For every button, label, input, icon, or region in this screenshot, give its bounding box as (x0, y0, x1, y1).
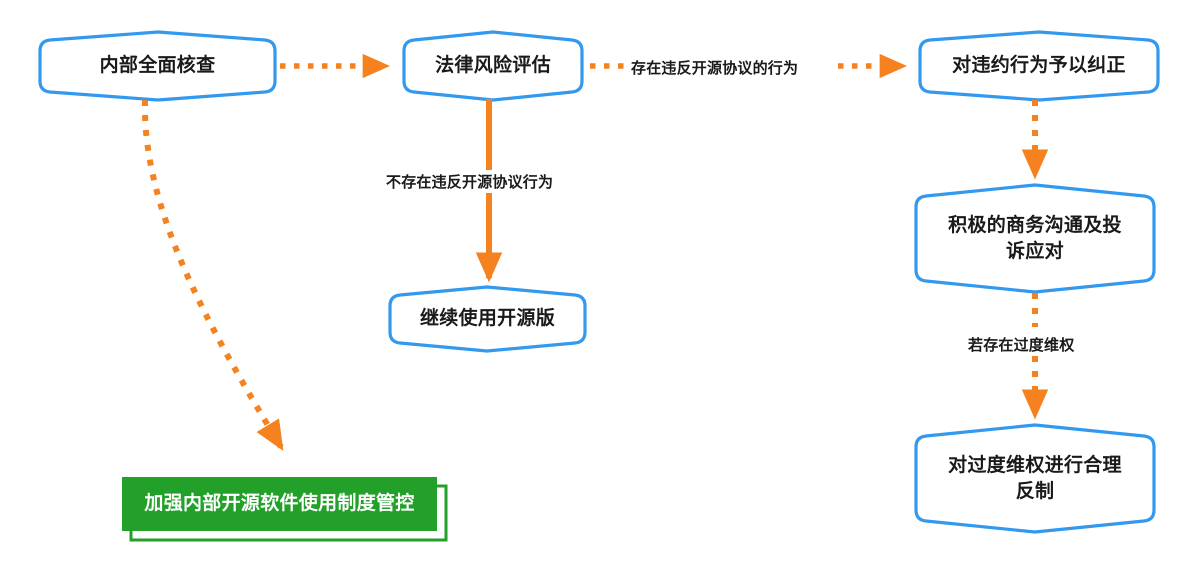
flowchart-canvas: 内部全面核查 法律风险评估 对违约行为予以纠正 继续使用开源版 积极的商务沟通及… (0, 0, 1177, 572)
edge-label-no-violation: 不存在违反开源协议行为 (383, 170, 556, 193)
edge-label-excessive-rights: 若存在过度维权 (965, 333, 1077, 356)
node-outline-legal-risk-assessment[interactable] (404, 32, 582, 100)
node-outline-correct-breach[interactable] (920, 32, 1158, 100)
node-outline-internal-review[interactable] (40, 32, 275, 100)
node-outline-counter-excessive-rights[interactable] (916, 425, 1154, 532)
node-outline-continue-open-source[interactable] (390, 287, 585, 351)
edge-label-exists-violation: 存在违反开源协议的行为 (628, 56, 801, 79)
node-outline-business-communication[interactable] (916, 185, 1154, 292)
edge-review-to-strengthen (145, 100, 281, 447)
flowchart-svg (0, 0, 1177, 572)
node-fill-strengthen-internal-control[interactable] (122, 477, 437, 531)
